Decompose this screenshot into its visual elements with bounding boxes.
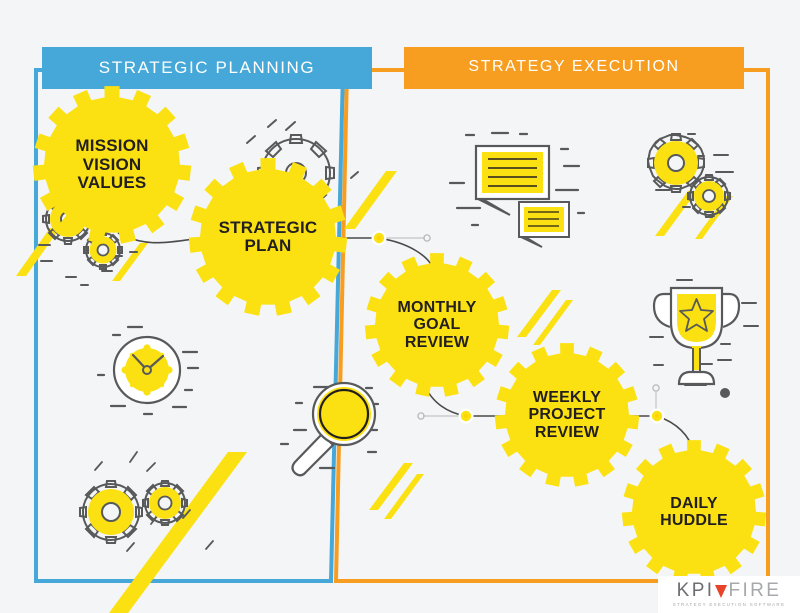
logo-tagline: STRATEGY EXECUTION SOFTWARE: [673, 603, 785, 607]
infographic-canvas: STRATEGIC PLANNING STRATEGY EXECUTION MI…: [0, 0, 800, 613]
panel-title-strategic-planning: STRATEGIC PLANNING: [42, 58, 372, 78]
logo-kpi-text: KPI: [677, 580, 715, 601]
dot-marker: [720, 388, 730, 398]
infographic-artwork: [0, 0, 800, 613]
logo-kpifire[interactable]: KPIFIRE STRATEGY EXECUTION SOFTWARE: [658, 576, 800, 613]
logo-fire-text: FIRE: [728, 580, 781, 601]
panel-title-strategy-execution: STRATEGY EXECUTION: [404, 58, 744, 76]
logo-wordmark: KPIFIRE: [677, 581, 782, 600]
flame-icon: [715, 585, 727, 598]
